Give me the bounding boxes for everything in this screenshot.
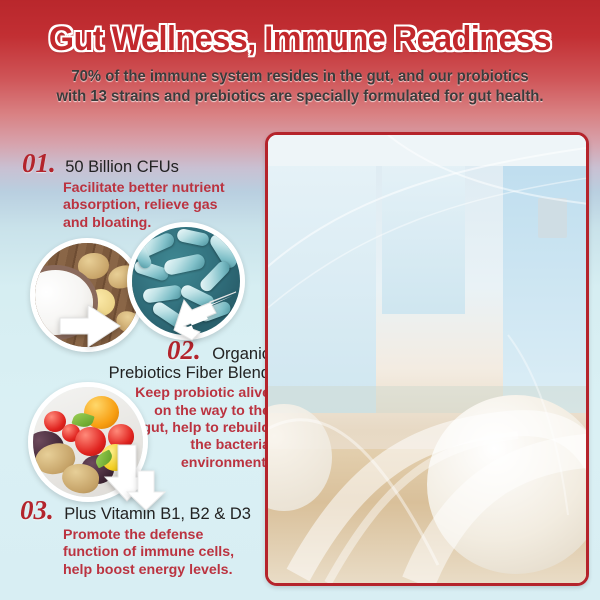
header: Gut Wellness, Immune Readiness 70% of th… [0,0,600,107]
feature-03-body-line-2: function of immune cells, [63,544,260,561]
feature-03-body-line-1: Promote the defense [63,527,260,544]
main-photo-family-gym [265,132,589,586]
page-title: Gut Wellness, Immune Readiness [15,0,585,58]
subtitle-line-1: 70% of the immune system resides in the … [71,68,528,85]
feature-03-body: Promote the defense function of immune c… [20,527,260,579]
arrow-icon-starch-to-right [58,300,124,352]
feature-01-titleline: 01. 50 Billion CFUs [22,150,252,177]
feature-01-body-line-2: absorption, relieve gas [63,197,252,214]
feature-01-body: Facilitate better nutrient absorption, r… [22,180,252,232]
feature-01-body-line-1: Facilitate better nutrient [63,180,252,197]
feature-01-number: 01. [22,150,56,177]
arrow-icon-bacteria-to-downleft [172,286,238,342]
subtitle-line-2: with 13 strains and prebiotics are speci… [56,88,543,105]
feature-02-heading-line-1: Organic [212,345,270,363]
feature-03-body-line-3: help boost energy levels. [63,562,260,579]
feature-02-heading-line-2: Prebiotics Fiber Blend [58,364,270,382]
page-subtitle: 70% of the immune system resides in the … [12,67,588,107]
feature-01-heading: 50 Billion CFUs [65,158,179,176]
feature-03-number: 03. [20,497,54,524]
arrow-icon-vitamin-pointer [124,470,170,512]
infographic-poster: Gut Wellness, Immune Readiness 70% of th… [0,0,600,600]
feature-block-01: 01. 50 Billion CFUs Facilitate better nu… [22,150,252,232]
